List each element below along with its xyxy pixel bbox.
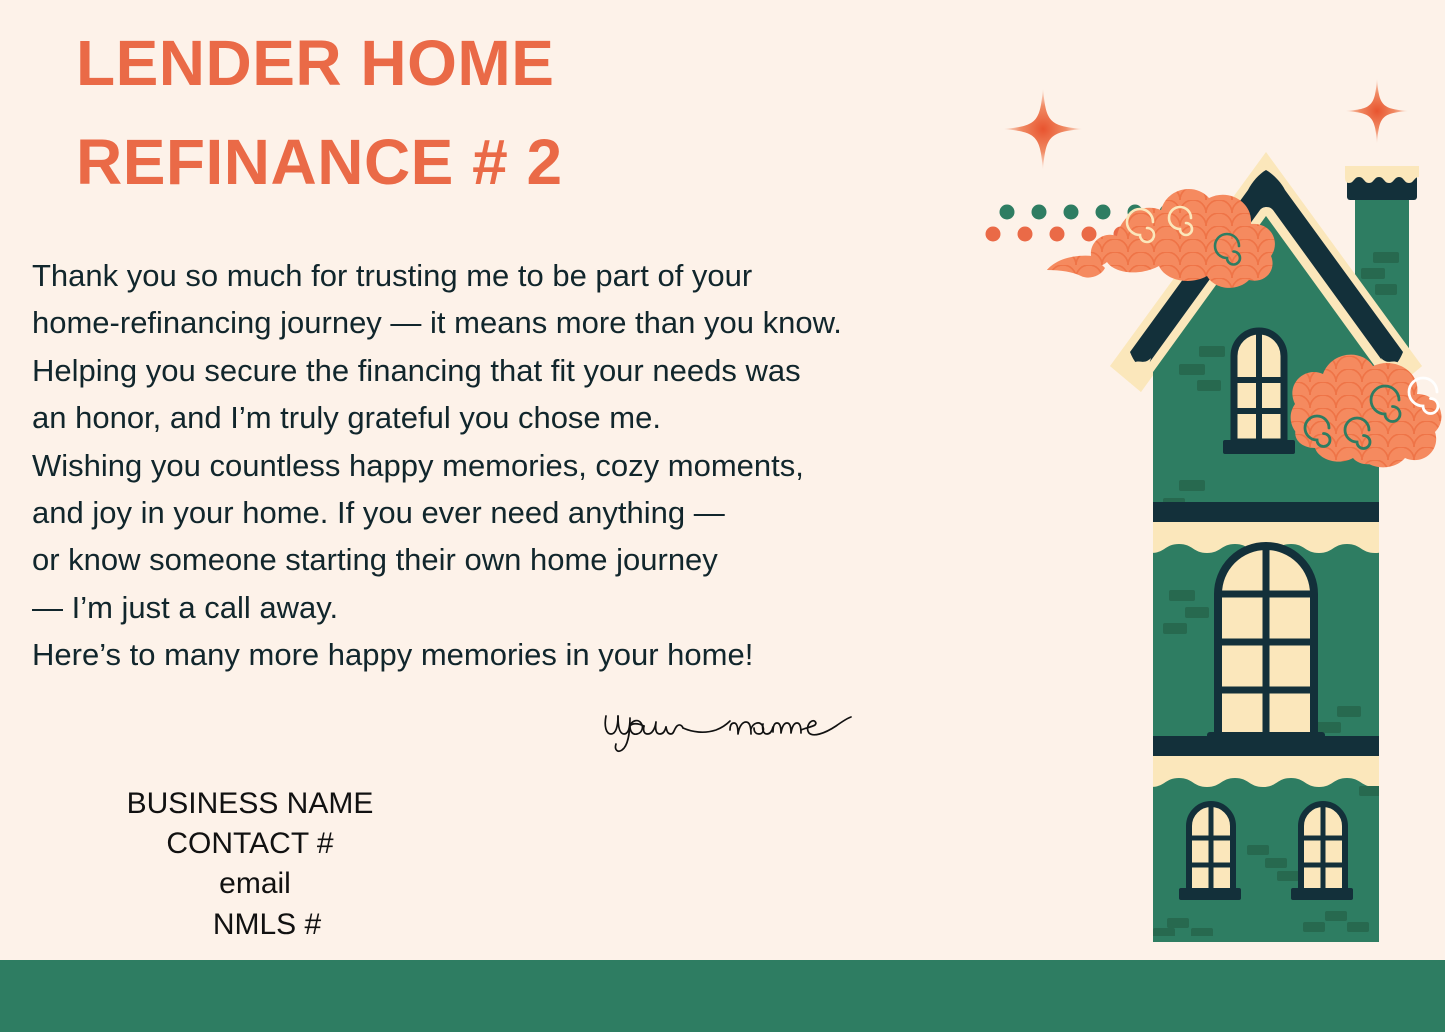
contact-phone: CONTACT # [40, 824, 460, 864]
contact-email: email [40, 864, 460, 904]
window-ground-right [1291, 804, 1353, 900]
footer-bar [0, 960, 1445, 1032]
message-line: Here’s to many more happy memories in yo… [32, 631, 992, 678]
contact-nmls: NMLS # [40, 905, 460, 945]
title-line-1: LENDER HOME [76, 14, 816, 113]
message-line: — I’m just a call away. [32, 584, 992, 631]
window-attic [1223, 331, 1295, 454]
title-line-2: REFINANCE # 2 [76, 113, 816, 212]
contact-block: BUSINESS NAME CONTACT # email NMLS # [40, 784, 460, 945]
message-line: home-refinancing journey — it means more… [32, 299, 992, 346]
message-line: an honor, and I’m truly grateful you cho… [32, 394, 992, 441]
message-line: Helping you secure the financing that fi… [32, 347, 992, 394]
message-line: and joy in your home. If you ever need a… [32, 489, 992, 536]
window-ground-left [1179, 804, 1241, 900]
sparkle-star-icon [1003, 88, 1083, 170]
message-line: Wishing you countless happy memories, co… [32, 442, 992, 489]
floor-ledge [1135, 736, 1403, 756]
cloud-top [1047, 189, 1275, 288]
greeting-card: LENDER HOME REFINANCE # 2 Thank you so m… [0, 0, 1445, 1032]
window-middle [1207, 544, 1325, 750]
contact-business-name: BUSINESS NAME [40, 784, 460, 824]
message-line: Thank you so much for trusting me to be … [32, 252, 992, 299]
page-title: LENDER HOME REFINANCE # 2 [76, 14, 816, 212]
message-line: or know someone starting their own home … [32, 536, 992, 583]
floor-ledge [1135, 502, 1403, 522]
signature: your name [600, 696, 860, 756]
message-body: Thank you so much for trusting me to be … [32, 252, 992, 679]
winter-house-illustration [985, 70, 1445, 950]
sparkle-star-icon [1345, 78, 1409, 144]
